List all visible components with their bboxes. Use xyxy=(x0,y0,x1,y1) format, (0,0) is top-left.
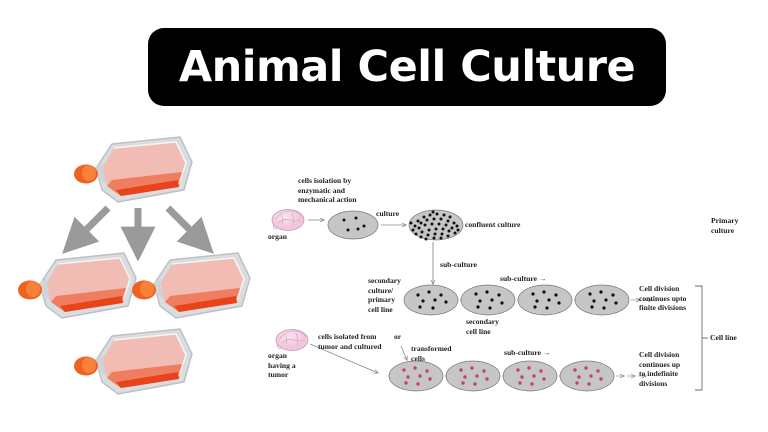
label-or: or xyxy=(394,332,401,342)
label-sub-culture-mid: sub-culture → xyxy=(500,274,546,284)
flask-bottom-left xyxy=(16,248,140,326)
label-secondary-cell-line: secondary cell line xyxy=(466,317,499,336)
label-sub-culture-vertical: sub-culture xyxy=(440,260,477,270)
dish-secondary-3 xyxy=(518,285,572,315)
dish-secondary-1 xyxy=(404,285,458,315)
label-confluent-culture: confluent culture xyxy=(465,220,520,230)
label-organ-having-tumor: organ having a tumor xyxy=(268,351,296,380)
dish-transformed-4 xyxy=(560,361,614,391)
label-sub-culture-bottom: sub-culture → xyxy=(504,348,550,358)
title-banner: Animal Cell Culture xyxy=(148,28,666,106)
dish-confluent-culture xyxy=(409,210,463,241)
cell-line-bracket xyxy=(695,286,702,390)
arrow-or-to-transformed xyxy=(401,346,407,360)
label-primary-culture: Primary culture xyxy=(711,216,738,235)
arrow-down-left-icon xyxy=(76,208,108,240)
dish-secondary-2 xyxy=(461,285,515,315)
dish-transformed-1 xyxy=(389,361,443,391)
label-finite-divisions: Cell division continues upto finite divi… xyxy=(639,284,686,313)
label-culture: culture xyxy=(376,209,399,219)
label-cell-line-bracket: Cell line xyxy=(710,333,737,343)
tissue-culture-flask-illustration xyxy=(10,128,270,423)
flask-top xyxy=(72,132,196,210)
flask-bottom-right xyxy=(130,248,254,326)
label-organ: organ xyxy=(268,232,287,242)
page-title: Animal Cell Culture xyxy=(179,46,635,89)
label-cells-isolated-from-tumor: cells isolated from tumor and cultured xyxy=(318,332,381,351)
label-cells-isolation: cells isolation by enzymatic and mechani… xyxy=(298,176,356,205)
label-transformed-cells: transformed cells xyxy=(411,344,452,363)
animal-cell-culture-flowchart: cells isolation by enzymatic and mechani… xyxy=(268,168,768,416)
arrow-down-right-icon xyxy=(168,208,200,240)
organ-brain-normal-icon xyxy=(272,210,304,231)
dish-secondary-4 xyxy=(575,285,629,315)
label-indefinite-divisions: Cell division continues up to indefinite… xyxy=(639,350,680,389)
flowchart-graphics xyxy=(268,168,768,416)
dish-transformed-2 xyxy=(446,361,500,391)
label-secondary-primary-cell-line: secondary culture/ primary cell line xyxy=(368,276,401,315)
flask-bottom-center xyxy=(72,324,196,402)
dish-sparse-cells xyxy=(328,211,378,239)
organ-brain-tumor-icon xyxy=(276,330,308,351)
dish-transformed-3 xyxy=(503,361,557,391)
